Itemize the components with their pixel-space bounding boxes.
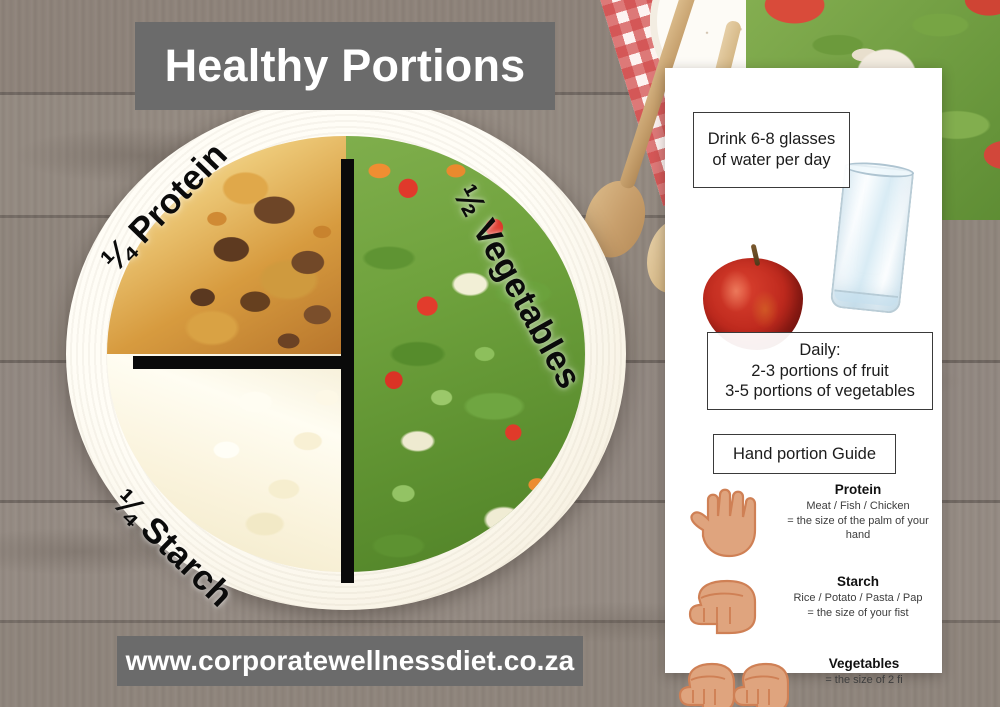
guide-size-vegetables: = the size of 2 fi: [793, 673, 935, 688]
info-card: Drink 6-8 glasses of water per day Daily…: [665, 68, 942, 673]
guide-row-protein: Protein Meat / Fish / Chicken = the size…: [675, 482, 933, 560]
daily-portions-box: Daily: 2-3 portions of fruit 3-5 portion…: [707, 332, 933, 410]
guide-title-starch: Starch: [783, 574, 933, 589]
guide-examples-starch: Rice / Potato / Pasta / Pap: [783, 591, 933, 606]
guide-size-starch: = the size of your fist: [783, 606, 933, 621]
apple-stem: [751, 244, 761, 267]
water-advice-box: Drink 6-8 glasses of water per day: [693, 112, 850, 188]
daily-label: Daily:: [799, 340, 840, 361]
glass-base: [833, 289, 898, 307]
guide-size-protein: = the size of the palm of your hand: [783, 514, 933, 543]
plate-divider-horizontal: [133, 356, 343, 369]
water-advice-line-2: of water per day: [712, 150, 830, 171]
open-palm-hand-icon: [683, 484, 773, 565]
water-advice-line-1: Drink 6-8 glasses: [708, 129, 835, 150]
plate-divider-vertical: [341, 159, 354, 583]
guide-row-starch: Starch Rice / Potato / Pasta / Pap = the…: [675, 574, 933, 646]
guide-text-vegetables: Vegetables = the size of 2 fi: [793, 656, 935, 688]
guide-title-protein: Protein: [783, 482, 933, 497]
fist-hand-icon: [683, 576, 769, 643]
guide-text-starch: Starch Rice / Potato / Pasta / Pap = the…: [783, 574, 933, 620]
poster-canvas: ¼ Protein ½ Vegetables ¼ Starch Healthy …: [0, 0, 1000, 707]
daily-vegetables-line: 3-5 portions of vegetables: [725, 381, 915, 402]
glass-rim: [844, 160, 915, 180]
page-title: Healthy Portions: [135, 22, 555, 110]
daily-fruit-line: 2-3 portions of fruit: [751, 361, 889, 382]
fist-hand-icon: [677, 658, 789, 707]
guide-text-protein: Protein Meat / Fish / Chicken = the size…: [783, 482, 933, 543]
guide-examples-protein: Meat / Fish / Chicken: [783, 499, 933, 514]
guide-row-vegetables: Vegetables = the size of 2 fi: [675, 656, 933, 707]
guide-title-vegetables: Vegetables: [793, 656, 935, 671]
hand-portion-guide-heading: Hand portion Guide: [713, 434, 896, 474]
website-url-banner[interactable]: www.corporatewellnessdiet.co.za: [117, 636, 583, 686]
